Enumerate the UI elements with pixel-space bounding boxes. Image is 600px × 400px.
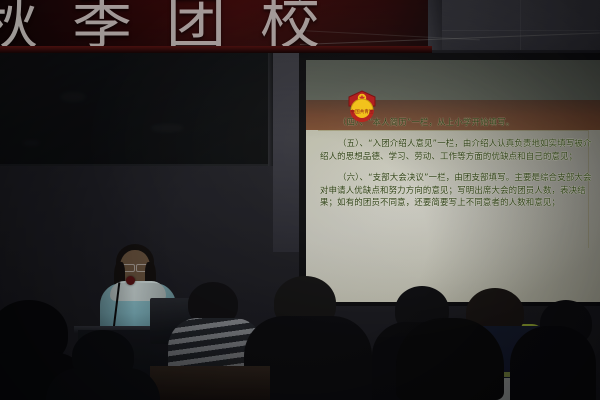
- svg-text:中国共青团: 中国共青团: [351, 108, 374, 115]
- classroom-scene: 秋季团校 中国共青团 （四）、“本人简历”一栏，从上小学开始填写。: [0, 0, 600, 400]
- chalk-smudge: [150, 124, 184, 132]
- right-wall-panel: [442, 0, 600, 54]
- blackboard: [0, 52, 272, 166]
- microphone-head-icon: [126, 276, 135, 285]
- projector-screen: 中国共青团 （四）、“本人简历”一栏，从上小学开始填写。 （五）、“入团介绍人意…: [306, 60, 600, 302]
- red-banner: 秋季团校: [0, 0, 432, 52]
- foreground-long-hair: [396, 318, 504, 400]
- slide-paragraph-6: （六）、“支部大会决议”一栏，由团支部填写。主要是综合支部大会对申请人优缺点和努…: [320, 171, 592, 208]
- audience-body: [46, 368, 160, 400]
- wall-seam-vertical: [520, 0, 521, 54]
- chalk-smudge: [60, 92, 86, 102]
- wall-seam-horizontal: [442, 30, 600, 31]
- banner-slogan-text: 秋季团校: [0, 0, 354, 52]
- slide-paragraph-5: （五）、“入团介绍人意见”一栏，由介绍人认真负责地如实填写被介绍人的思想品德、学…: [320, 137, 592, 162]
- audience-long-hair: [510, 326, 596, 400]
- chalk-smudge: [22, 140, 40, 146]
- communist-youth-league-emblem-icon: 中国共青团: [342, 86, 382, 126]
- banner-bottom-edge: [0, 46, 432, 53]
- slide-text-block: （四）、“本人简历”一栏，从上小学开始填写。 （五）、“入团介绍人意见”一栏，由…: [320, 116, 592, 217]
- desk: [150, 366, 270, 400]
